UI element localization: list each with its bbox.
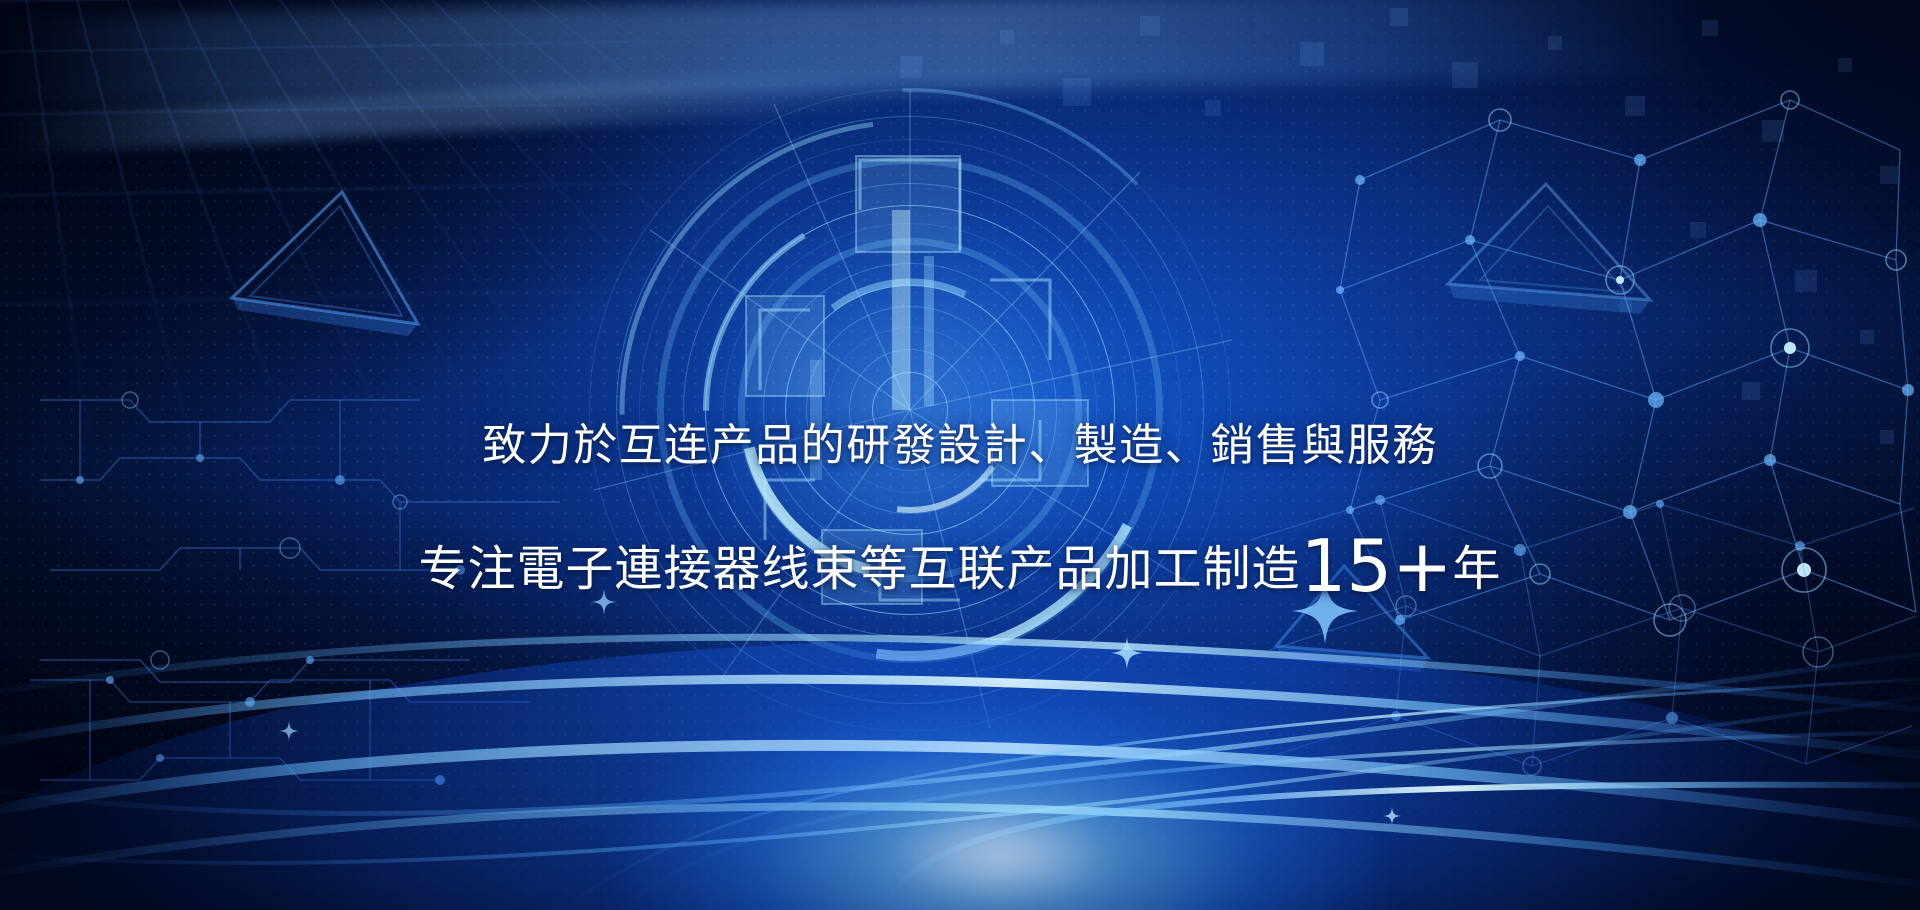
years-count: 15+ [1301, 524, 1453, 608]
hero-banner: 致力於互连产品的研發設計、製造、銷售與服務 专注電子連接器线束等互联产品加工制造… [0, 0, 1920, 910]
headline-line-2-suffix: 年 [1452, 541, 1501, 597]
headline-line-2-prefix: 专注電子連接器线束等互联产品加工制造 [419, 541, 1301, 597]
headline-line-1: 致力於互连产品的研發設計、製造、銷售與服務 [0, 424, 1920, 468]
headline-block: 致力於互连产品的研發設計、製造、銷售與服務 专注電子連接器线束等互联产品加工制造… [0, 0, 1920, 910]
headline-line-2: 专注電子連接器线束等互联产品加工制造15+年 [0, 530, 1920, 602]
